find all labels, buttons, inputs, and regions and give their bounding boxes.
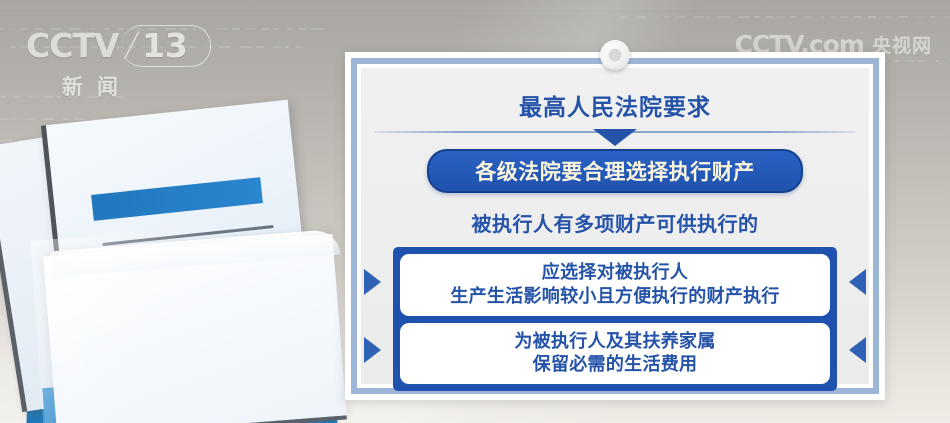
logo-cctv-text: CCTV <box>26 29 119 62</box>
bullet-text-line: 为被执行人及其扶养家属 <box>412 330 818 354</box>
info-panel: 最高人民法院要求 各级法院要合理选择执行财产 被执行人有多项财产可供执行的 <box>345 52 885 400</box>
logo-subtitle: 新闻 <box>26 71 226 101</box>
triangle-left-icon <box>849 269 866 295</box>
panel-blue-band: 最高人民法院要求 各级法院要合理选择执行财产 被执行人有多项财产可供执行的 <box>351 58 879 394</box>
panel-content: 最高人民法院要求 各级法院要合理选择执行财产 被执行人有多项财产可供执行的 <box>361 68 869 384</box>
subheading: 被执行人有多项财产可供执行的 <box>361 208 869 237</box>
triangle-right-icon <box>364 337 381 363</box>
triangle-right-icon <box>364 269 381 295</box>
bullet-card: 为被执行人及其扶养家属 保留必需的生活费用 <box>400 323 830 385</box>
broadcast-screen: CCTV / 13 新闻 CCTV.com 央视网 最高人民法院要求 <box>0 0 950 423</box>
bullet-card: 应选择对被执行人 生产生活影响较小且方便执行的财产执行 <box>400 254 830 316</box>
circle-pin-icon <box>600 40 630 70</box>
bullet-text-line: 生产生活影响较小且方便执行的财产执行 <box>412 285 818 309</box>
channel-logo: CCTV / 13 新闻 <box>26 26 226 92</box>
headline-pill: 各级法院要合理选择执行财产 <box>427 149 803 193</box>
document-folder-illustration <box>0 110 342 423</box>
bullet-text-line: 保留必需的生活费用 <box>412 353 818 377</box>
bullet-container: 应选择对被执行人 生产生活影响较小且方便执行的财产执行 为被执行人及其扶养家属 … <box>393 247 837 391</box>
triangle-left-icon <box>849 337 866 363</box>
headline-pill-label: 各级法院要合理选择执行财产 <box>475 156 755 186</box>
bullet-section: 应选择对被执行人 生产生活影响较小且方便执行的财产执行 为被执行人及其扶养家属 … <box>393 247 837 391</box>
panel-inner-white-border: 最高人民法院要求 各级法院要合理选择执行财产 被执行人有多项财产可供执行的 <box>357 64 873 388</box>
page-title: 最高人民法院要求 <box>361 68 869 122</box>
title-divider <box>375 131 855 133</box>
chevron-down-icon <box>593 129 637 146</box>
bullet-text-line: 应选择对被执行人 <box>412 261 818 285</box>
